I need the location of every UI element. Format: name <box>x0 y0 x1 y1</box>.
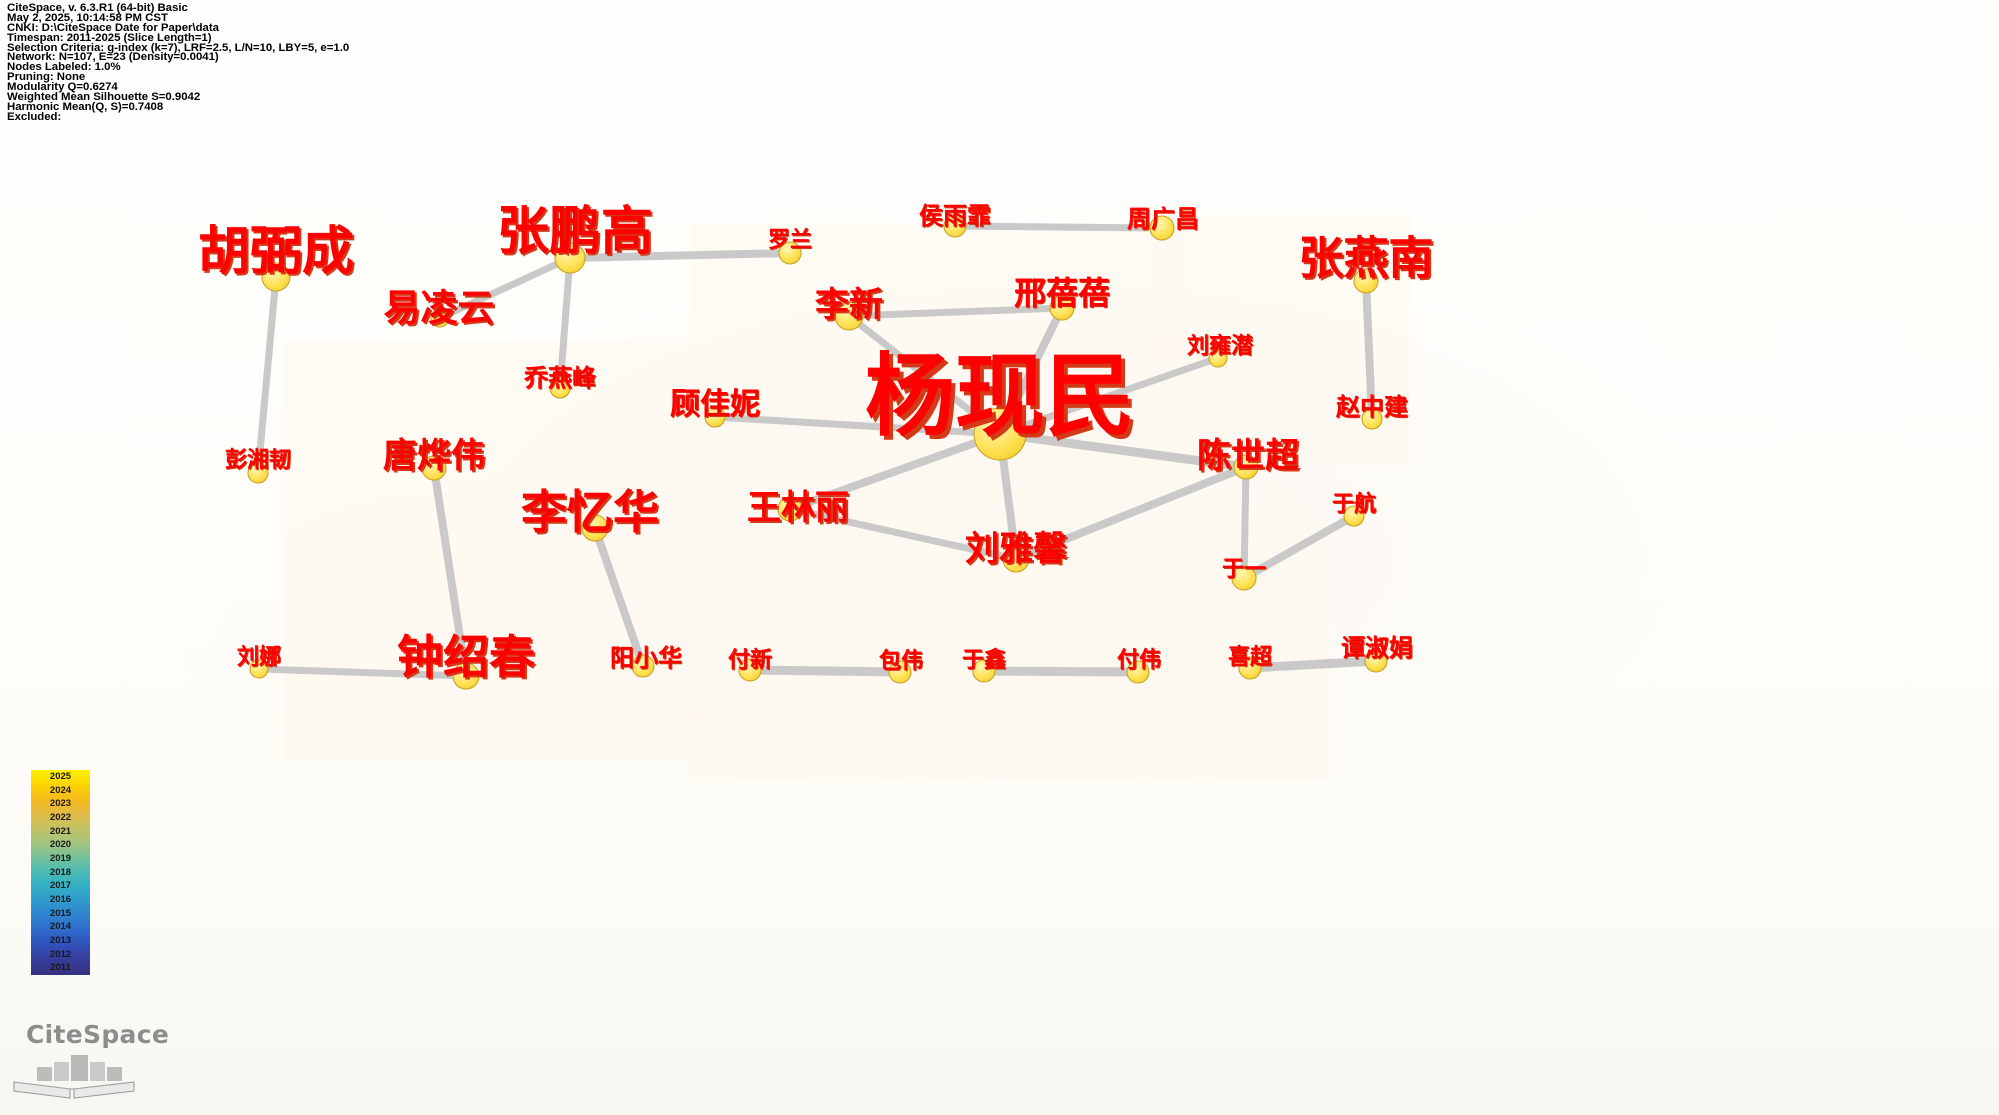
node-label[interactable]: 陈世超 <box>1197 439 1299 473</box>
node-label[interactable]: 赵中建 <box>1336 395 1408 419</box>
node-label[interactable]: 李忆华 <box>521 489 659 535</box>
node-label[interactable]: 顾佳妮 <box>670 390 760 420</box>
year-color-legend[interactable]: 2025202420232022202120202019201820172016… <box>31 770 90 975</box>
node-label[interactable]: 邢蓓蓓 <box>1014 277 1110 309</box>
node-label[interactable]: 刘娜 <box>237 647 281 669</box>
legend-year-2019: 2019 <box>31 852 90 866</box>
legend-year-2012: 2012 <box>31 948 90 962</box>
legend-year-2011: 2011 <box>31 961 90 975</box>
node-label[interactable]: 于鑫 <box>962 650 1006 672</box>
node-label[interactable]: 李新 <box>815 288 883 322</box>
node-label[interactable]: 彭湘韧 <box>225 450 291 472</box>
node-label[interactable]: 周广昌 <box>1127 207 1199 231</box>
legend-year-2017: 2017 <box>31 879 90 893</box>
legend-year-2022: 2022 <box>31 811 90 825</box>
node-label[interactable]: 胡弼成 <box>198 226 354 278</box>
legend-year-2025: 2025 <box>31 770 90 784</box>
node-label[interactable]: 于航 <box>1332 494 1376 516</box>
legend-year-2024: 2024 <box>31 784 90 798</box>
metadata-line-12: Excluded: <box>7 113 349 123</box>
network-edge <box>750 670 900 672</box>
node-label[interactable]: 易凌云 <box>384 290 495 327</box>
legend-year-2020: 2020 <box>31 838 90 852</box>
citespace-logo-mark <box>10 1048 138 1100</box>
network-edge <box>258 277 276 473</box>
legend-year-2015: 2015 <box>31 907 90 921</box>
node-label[interactable]: 谭淑娟 <box>1341 636 1413 660</box>
citespace-logo: CiteSpace <box>10 1020 138 1100</box>
node-label[interactable]: 包伟 <box>879 651 923 673</box>
node-label[interactable]: 喜超 <box>1228 647 1272 669</box>
legend-year-2021: 2021 <box>31 825 90 839</box>
node-label[interactable]: 唐烨伟 <box>383 439 485 473</box>
node-label[interactable]: 付伟 <box>1117 650 1161 672</box>
citespace-logo-text: CiteSpace <box>26 1020 169 1049</box>
analysis-metadata-panel: CiteSpace, v. 6.3.R1 (64-bit) BasicMay 2… <box>7 4 349 123</box>
legend-year-2014: 2014 <box>31 920 90 934</box>
network-edge <box>984 671 1138 672</box>
legend-year-2013: 2013 <box>31 934 90 948</box>
node-label[interactable]: 钟绍春 <box>397 634 535 680</box>
node-label[interactable]: 刘雍潜 <box>1187 336 1253 358</box>
node-label[interactable]: 付新 <box>728 650 772 672</box>
legend-year-2023: 2023 <box>31 797 90 811</box>
node-label[interactable]: 侯雨霏 <box>919 204 991 228</box>
node-label[interactable]: 于一 <box>1222 559 1266 581</box>
citespace-visualization-canvas: CiteSpace, v. 6.3.R1 (64-bit) BasicMay 2… <box>0 0 1999 1115</box>
node-label[interactable]: 刘雅馨 <box>965 532 1067 566</box>
node-label[interactable]: 张燕南 <box>1298 236 1433 281</box>
legend-year-2016: 2016 <box>31 893 90 907</box>
node-label[interactable]: 阳小华 <box>610 646 682 670</box>
node-label[interactable]: 罗兰 <box>768 230 812 252</box>
node-label[interactable]: 王林丽 <box>747 491 849 525</box>
node-label[interactable]: 乔燕峰 <box>524 366 596 390</box>
node-label[interactable]: 杨现民 <box>865 352 1135 442</box>
node-label[interactable]: 张鹏高 <box>497 206 653 258</box>
legend-year-2018: 2018 <box>31 866 90 880</box>
